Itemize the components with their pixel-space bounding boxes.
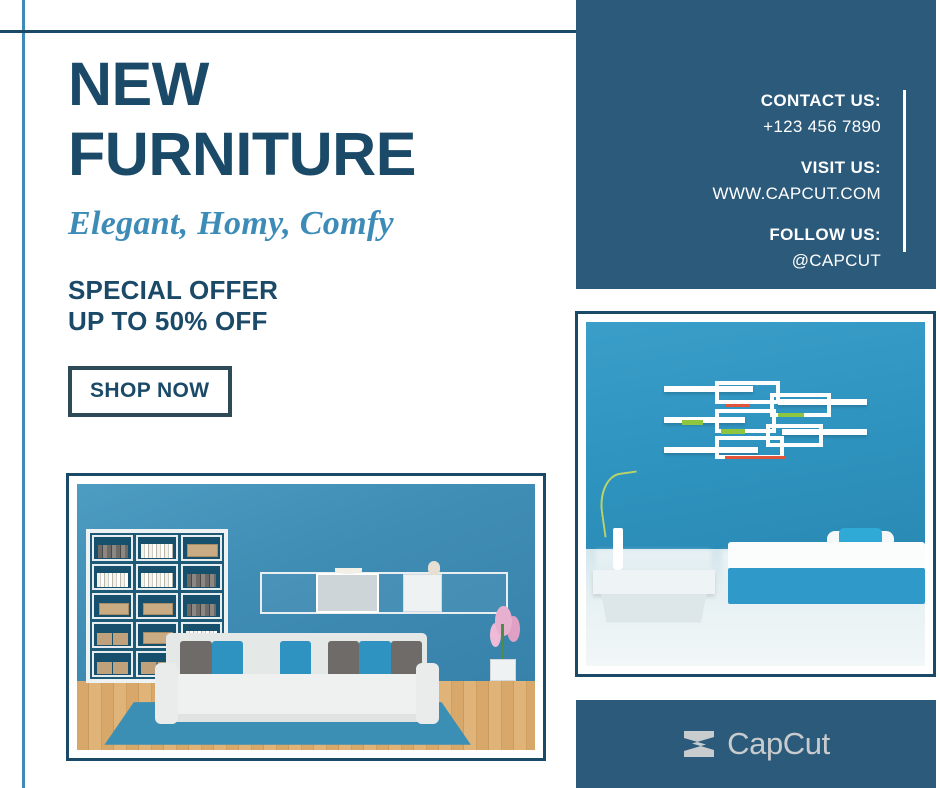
bedroom-photo [586, 322, 925, 666]
poster-canvas: NEW FURNITURE Elegant, Homy, Comfy SPECI… [0, 0, 940, 788]
brand-logo-panel: CapCut [576, 700, 936, 788]
social-handle[interactable]: @CAPCUT [712, 248, 881, 274]
side-photo-frame [575, 311, 936, 677]
daybed [728, 535, 925, 604]
contact-panel: CONTACT US: +123 456 7890 VISIT US: WWW.… [576, 0, 936, 289]
page-title: NEW FURNITURE [68, 55, 558, 185]
special-offer-text: SPECIAL OFFER UP TO 50% OFF [68, 275, 558, 337]
follow-us-label: FOLLOW US: [712, 222, 881, 248]
contact-website-group: VISIT US: WWW.CAPCUT.COM [712, 155, 881, 206]
offer-line-2: UP TO 50% OFF [68, 306, 558, 337]
shop-now-button[interactable]: SHOP NOW [68, 366, 232, 417]
bedroom-vase [613, 528, 623, 569]
contact-us-label: CONTACT US: [712, 88, 881, 114]
modular-wall-shelves [664, 374, 867, 463]
website-url[interactable]: WWW.CAPCUT.COM [712, 181, 881, 207]
visit-us-label: VISIT US: [712, 155, 881, 181]
promo-text-column: NEW FURNITURE Elegant, Homy, Comfy SPECI… [68, 55, 558, 417]
sofa [155, 633, 439, 731]
low-bench [593, 570, 715, 594]
orchid-plant [485, 606, 522, 680]
capcut-hourglass-icon [682, 729, 716, 759]
contact-divider-rule [903, 90, 906, 252]
main-photo-frame [66, 473, 546, 761]
contact-social-group: FOLLOW US: @CAPCUT [712, 222, 881, 273]
wall-shelf [260, 572, 507, 615]
shelf-vase [428, 561, 440, 574]
contact-phone-group: CONTACT US: +123 456 7890 [712, 88, 881, 139]
shelf-storage-box [403, 574, 442, 613]
offer-line-1: SPECIAL OFFER [68, 275, 558, 306]
shelf-cube [316, 573, 379, 613]
headline-line-2: FURNITURE [68, 125, 558, 185]
brand-name: CapCut [727, 726, 830, 762]
contact-details: CONTACT US: +123 456 7890 VISIT US: WWW.… [712, 88, 881, 273]
living-room-photo [77, 484, 535, 750]
headline-line-1: NEW [68, 50, 209, 118]
tagline: Elegant, Homy, Comfy [68, 205, 558, 243]
vertical-accent-rule [22, 0, 25, 788]
phone-number[interactable]: +123 456 7890 [712, 114, 881, 140]
